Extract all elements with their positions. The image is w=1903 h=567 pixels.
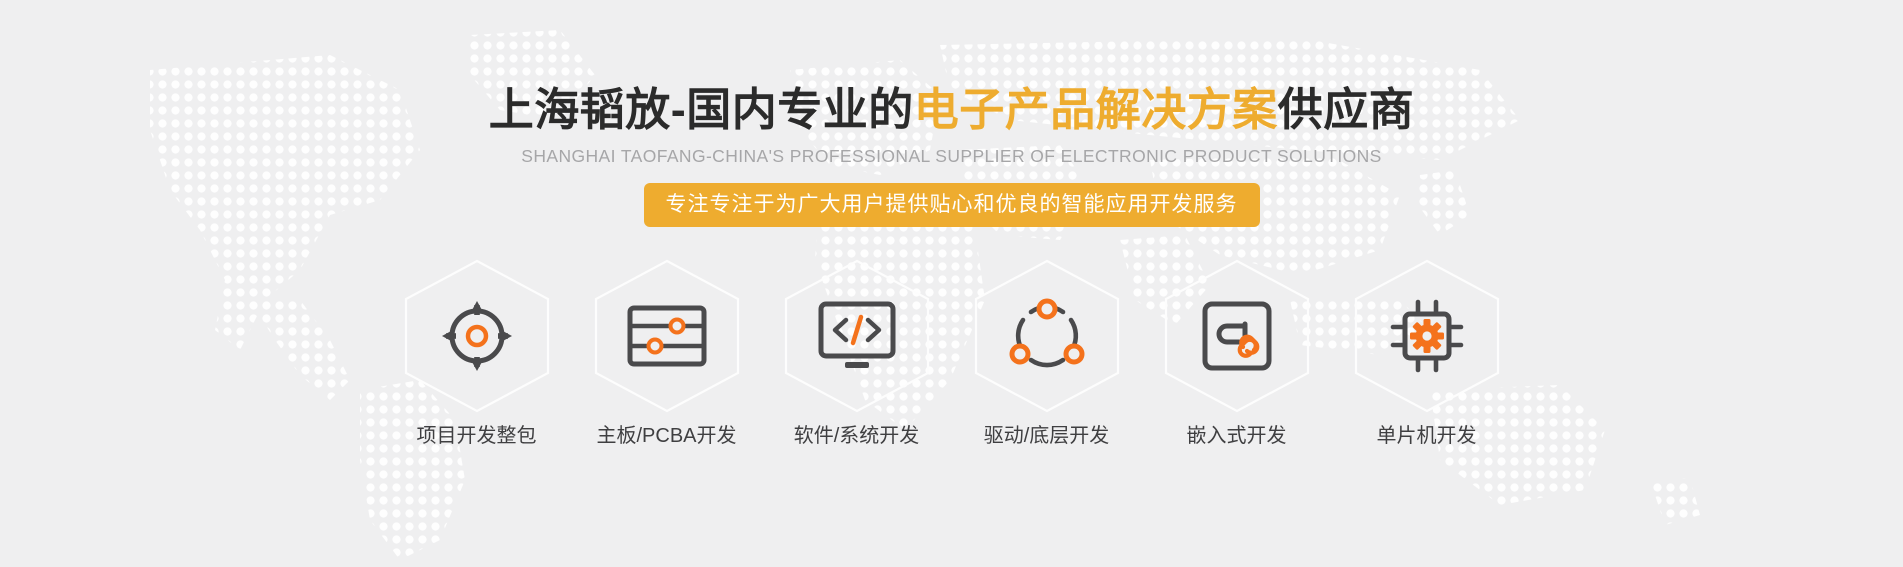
service-label: 主板/PCBA开发 bbox=[596, 423, 736, 449]
headline-tail: 供应商 bbox=[1278, 84, 1415, 135]
hero-text-block: 上海韬放-国内专业的电子产品解决方案供应商 SHANGHAI TAOFANG-C… bbox=[0, 84, 1903, 227]
embedded-chip-link-icon bbox=[1163, 258, 1311, 414]
service-item-mcu[interactable]: 单片机开发 bbox=[1353, 258, 1501, 449]
page-subtitle: SHANGHAI TAOFANG-CHINA'S PROFESSIONAL SU… bbox=[0, 145, 1903, 167]
service-label: 单片机开发 bbox=[1377, 423, 1477, 449]
tagline-badge: 专注专注于为广大用户提供贴心和优良的智能应用开发服务 bbox=[644, 183, 1260, 227]
hexagon-frame bbox=[403, 258, 551, 414]
microchip-gear-icon bbox=[1353, 258, 1501, 414]
hexagon-frame bbox=[783, 258, 931, 414]
service-item-embedded[interactable]: 嵌入式开发 bbox=[1163, 258, 1311, 449]
crosshair-target-icon bbox=[403, 258, 551, 414]
service-item-pcba[interactable]: 主板/PCBA开发 bbox=[593, 258, 741, 449]
service-label: 驱动/底层开发 bbox=[984, 423, 1110, 449]
headline-accent: 电子产品解决方案 bbox=[914, 84, 1278, 135]
pcb-board-icon bbox=[593, 258, 741, 414]
hexagon-frame bbox=[973, 258, 1121, 414]
service-list: 项目开发整包 主板/PCBA开发 bbox=[0, 258, 1903, 449]
service-item-project-package[interactable]: 项目开发整包 bbox=[403, 258, 551, 449]
service-label: 软件/系统开发 bbox=[794, 423, 920, 449]
hexagon-frame bbox=[593, 258, 741, 414]
service-item-driver[interactable]: 驱动/底层开发 bbox=[973, 258, 1121, 449]
hexagon-frame bbox=[1163, 258, 1311, 414]
service-label: 项目开发整包 bbox=[417, 423, 537, 449]
tagline-badge-wrap: 专注专注于为广大用户提供贴心和优良的智能应用开发服务 bbox=[0, 183, 1903, 227]
page-title: 上海韬放-国内专业的电子产品解决方案供应商 bbox=[0, 84, 1903, 136]
hero-banner: 上海韬放-国内专业的电子产品解决方案供应商 SHANGHAI TAOFANG-C… bbox=[0, 0, 1903, 567]
service-label: 嵌入式开发 bbox=[1187, 423, 1287, 449]
hexagon-frame bbox=[1353, 258, 1501, 414]
network-nodes-icon bbox=[973, 258, 1121, 414]
headline-lead: 上海韬放-国内专业的 bbox=[489, 84, 914, 135]
monitor-code-icon bbox=[783, 258, 931, 414]
service-item-software[interactable]: 软件/系统开发 bbox=[783, 258, 931, 449]
